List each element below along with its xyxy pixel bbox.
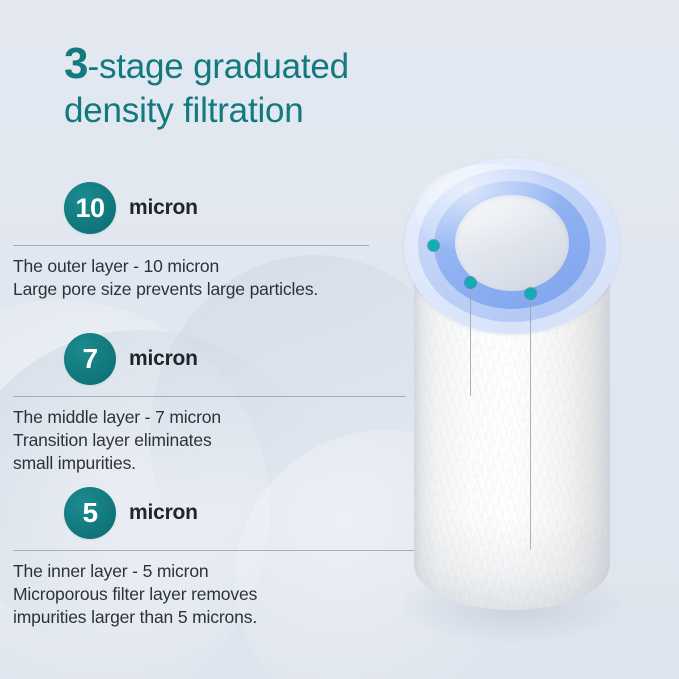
badge-row: 7 micron xyxy=(64,333,198,385)
micron-badge-5: 5 xyxy=(64,487,116,539)
callout-description-7-micron: The middle layer - 7 micron Transition l… xyxy=(13,406,221,475)
leader-line-7-micron-vertical xyxy=(470,282,471,396)
sediment-filter-cartridge-illustration xyxy=(398,150,628,650)
description-line: The middle layer - 7 micron xyxy=(13,406,221,429)
marker-dot-7-micron xyxy=(465,277,476,288)
description-line: Large pore size prevents large particles… xyxy=(13,278,318,301)
callout-description-10-micron: The outer layer - 10 micron Large pore s… xyxy=(13,255,318,301)
micron-badge-10: 10 xyxy=(64,182,116,234)
marker-dot-5-micron xyxy=(525,288,536,299)
page-title-line-1-rest: -stage graduated xyxy=(87,47,348,86)
description-line: Microporous filter layer removes xyxy=(13,583,257,606)
micron-unit-label-10: micron xyxy=(129,196,198,220)
page-title-line-1: 3-stage graduated xyxy=(64,38,534,90)
micron-badge-7: 7 xyxy=(64,333,116,385)
marker-dot-10-micron xyxy=(428,240,439,251)
cartridge-bottom-shading xyxy=(414,518,610,610)
description-line: small impurities. xyxy=(13,452,221,475)
page-title-line-2: density filtration xyxy=(64,90,534,131)
page-title-emphasis: 3 xyxy=(64,39,87,88)
micron-unit-label-5: micron xyxy=(129,501,198,525)
page-title: 3-stage graduated density filtration xyxy=(64,38,534,131)
callout-group-5-micron: 5 micron xyxy=(64,487,198,539)
micron-unit-label-7: micron xyxy=(129,347,198,371)
description-line: impurities larger than 5 microns. xyxy=(13,606,257,629)
callout-divider-10-micron xyxy=(13,245,369,246)
callout-divider-7-micron xyxy=(13,396,406,397)
callout-group-7-micron: 7 micron xyxy=(64,333,198,385)
description-line: Transition layer eliminates xyxy=(13,429,221,452)
infographic-canvas: 3-stage graduated density filtration 10 … xyxy=(0,0,679,679)
callout-description-5-micron: The inner layer - 5 micron Microporous f… xyxy=(13,560,257,629)
callout-group-10-micron: 10 micron xyxy=(64,182,198,234)
description-line: The outer layer - 10 micron xyxy=(13,255,318,278)
badge-row: 5 micron xyxy=(64,487,198,539)
description-line: The inner layer - 5 micron xyxy=(13,560,257,583)
badge-row: 10 micron xyxy=(64,182,198,234)
leader-line-5-micron-vertical xyxy=(530,293,531,550)
